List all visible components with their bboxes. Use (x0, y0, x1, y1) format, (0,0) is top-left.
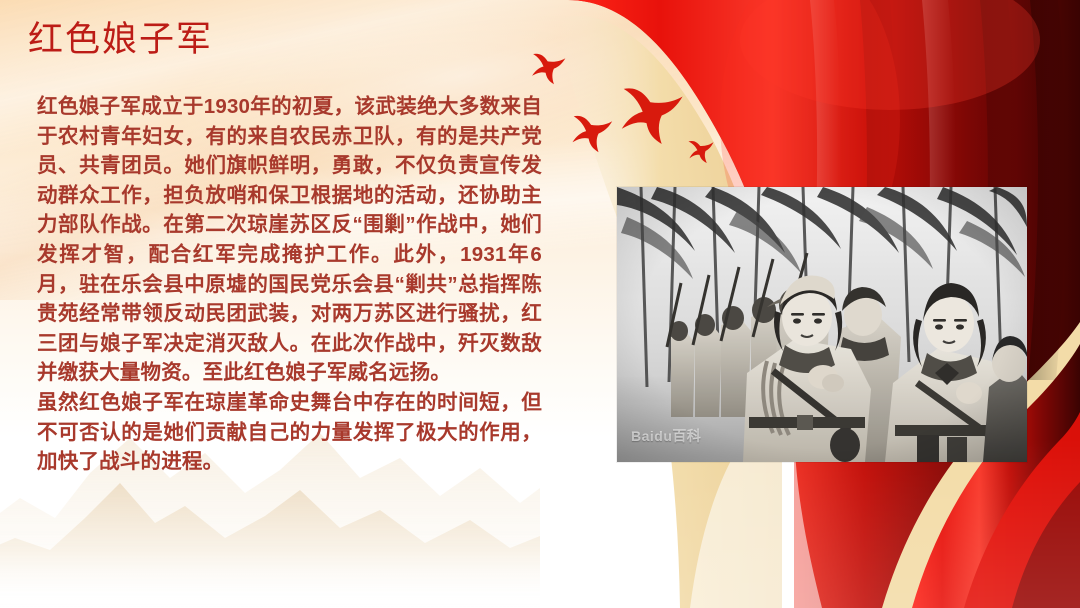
slide-canvas: 红色娘子军 红色娘子军成立于1930年的初夏，该武装绝大多数来自于农村青年妇女，… (0, 0, 1080, 608)
bird-icon (532, 54, 565, 84)
historical-photo: Baidu百科 (617, 187, 1027, 462)
slide-body-text: 红色娘子军成立于1930年的初夏，该武装绝大多数来自于农村青年妇女，有的来自农民… (37, 92, 542, 477)
bird-icon (688, 139, 716, 165)
flying-birds-group (520, 45, 750, 175)
bird-icon (622, 88, 683, 144)
slide-title: 红色娘子军 (28, 18, 213, 62)
photo-watermark: Baidu百科 (631, 426, 701, 446)
bird-icon (572, 116, 612, 152)
